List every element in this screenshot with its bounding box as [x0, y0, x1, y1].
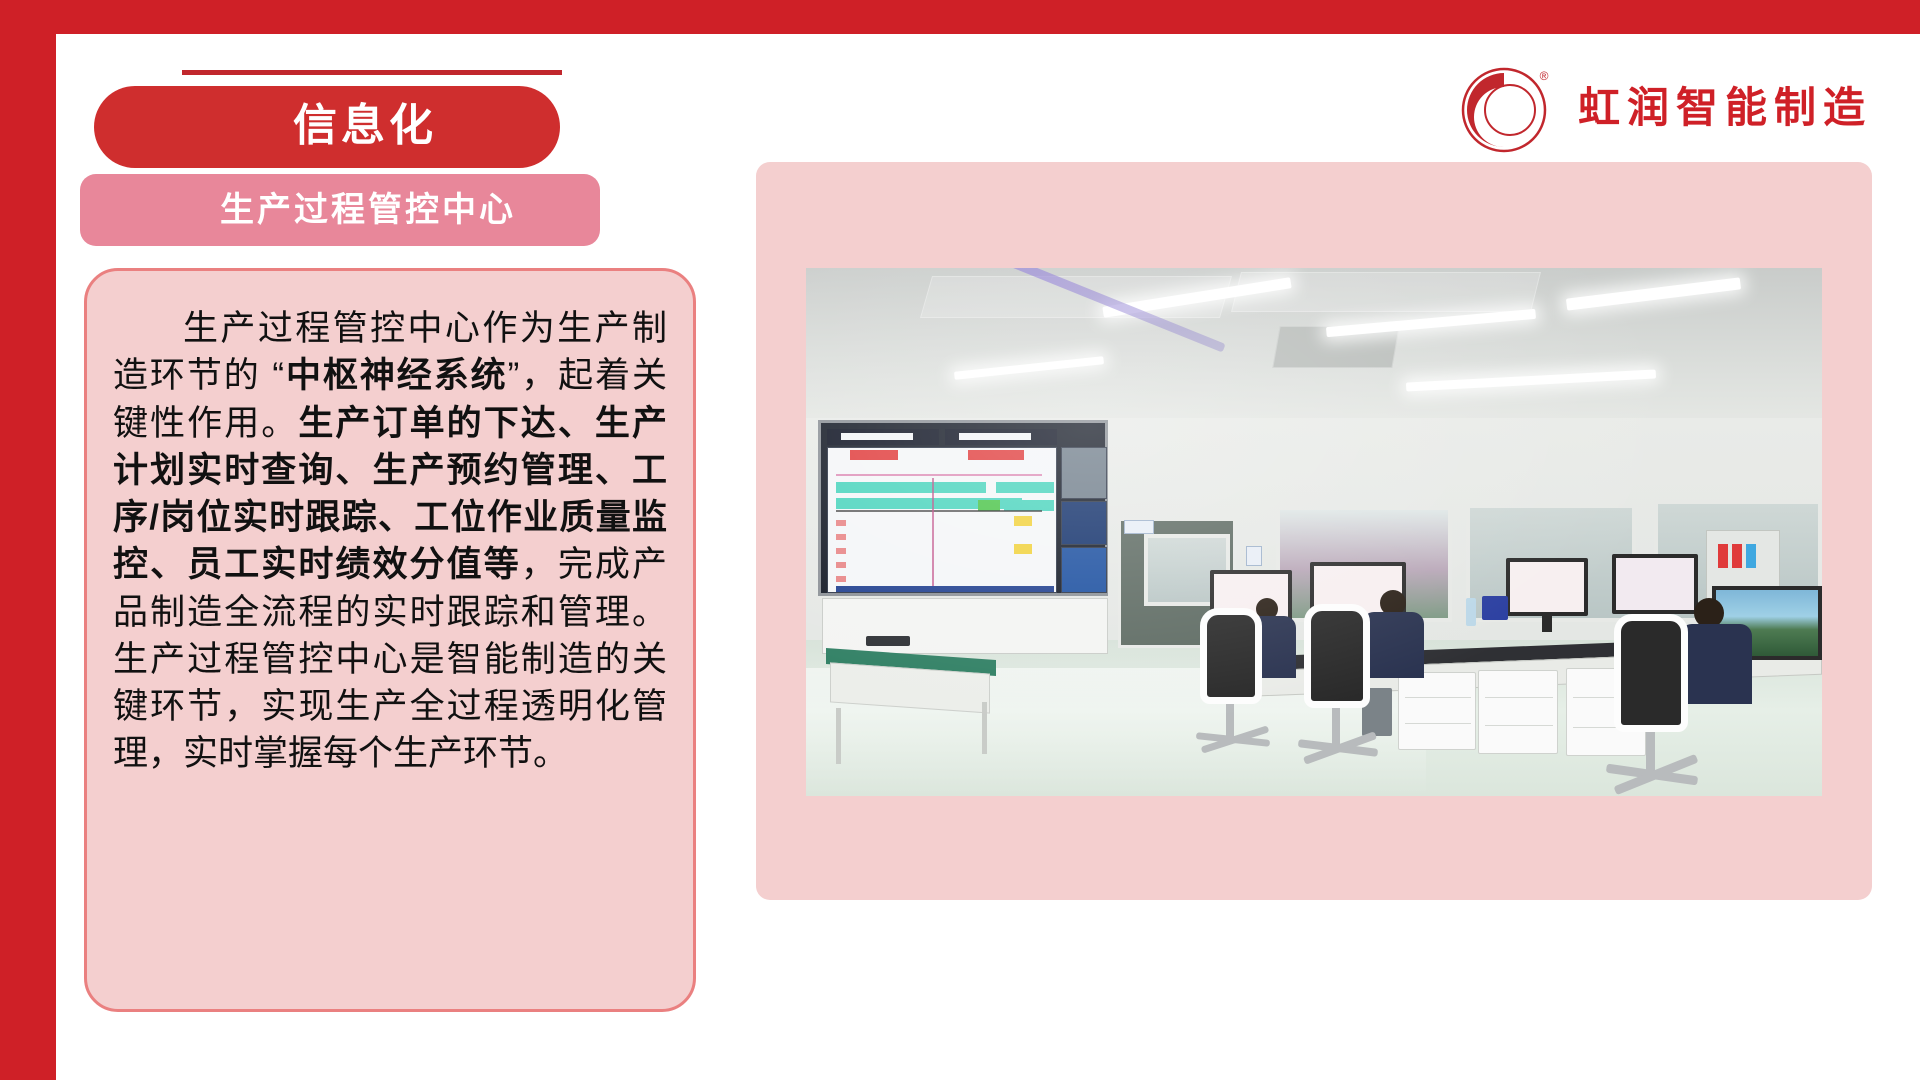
description-panel: 生产过程管控中心作为生产制造环节的 “中枢神经系统”，起着关键性作用。生产订单的… — [84, 268, 696, 1012]
top-red-bar — [0, 0, 1920, 34]
video-wall-blue-panel — [1061, 547, 1107, 593]
desk-pedestal — [1478, 670, 1558, 754]
desk-folder — [1482, 596, 1508, 620]
svg-text:®: ® — [1540, 69, 1549, 83]
title-rule-top — [182, 70, 562, 75]
worker-body — [1362, 612, 1424, 678]
table-leg — [836, 708, 841, 764]
video-wall-blue-panel — [1061, 501, 1107, 545]
description-text: 生产过程管控中心作为生产制造环节的 “中枢神经系统”，起着关键性作用。生产订单的… — [113, 305, 667, 778]
video-wall-camera-feed — [1061, 447, 1107, 499]
photo-frame — [756, 162, 1872, 900]
section-subtitle-badge: 生产过程管控中心 — [80, 174, 600, 246]
chair-post — [1332, 708, 1340, 748]
wall-sign — [1246, 546, 1262, 566]
page-title-badge: 信息化 — [94, 86, 560, 168]
video-wall-header-left-text — [841, 433, 913, 440]
office-chair-back — [1304, 604, 1370, 708]
office-chair-back — [1614, 614, 1688, 732]
worker-body — [1680, 624, 1752, 704]
page-title: 信息化 — [293, 104, 437, 148]
video-wall-header-right-text — [959, 433, 1031, 440]
desk-device — [866, 636, 910, 646]
video-wall-table-panel — [827, 447, 1057, 593]
desk-monitor — [1612, 554, 1698, 614]
brand-name: 虹润智能制造 — [1578, 87, 1872, 129]
water-bottle — [1466, 598, 1476, 626]
left-red-bar — [0, 0, 56, 1080]
section-subtitle: 生产过程管控中心 — [220, 193, 516, 227]
table-leg — [982, 702, 987, 754]
desk-pedestal — [1398, 672, 1476, 750]
slide-root: 信息化 HR ® 虹润智能制造 生产过程管控中心 生产过程管控中心作为 — [0, 0, 1920, 1080]
ceiling-tile — [1231, 272, 1541, 312]
desk-monitor — [1506, 558, 1588, 616]
hr-circle-logo-icon: HR ® — [1460, 62, 1552, 154]
monitor-stand — [1542, 616, 1552, 632]
chair-post — [1646, 732, 1655, 774]
svg-text:HR: HR — [1488, 96, 1532, 129]
office-chair-back — [1200, 608, 1262, 704]
video-wall — [818, 420, 1108, 596]
slide-canvas: 信息化 HR ® 虹润智能制造 生产过程管控中心 生产过程管控中心作为 — [56, 34, 1920, 1066]
brand-lockup: HR ® 虹润智能制造 — [1460, 62, 1872, 154]
wall-cabinet — [822, 598, 1108, 654]
control-room-photo — [806, 268, 1822, 796]
wall-sign — [1124, 520, 1154, 534]
description-emphasis: 中枢神经系统 — [284, 356, 508, 395]
bottom-left-red-notch — [0, 1066, 56, 1080]
